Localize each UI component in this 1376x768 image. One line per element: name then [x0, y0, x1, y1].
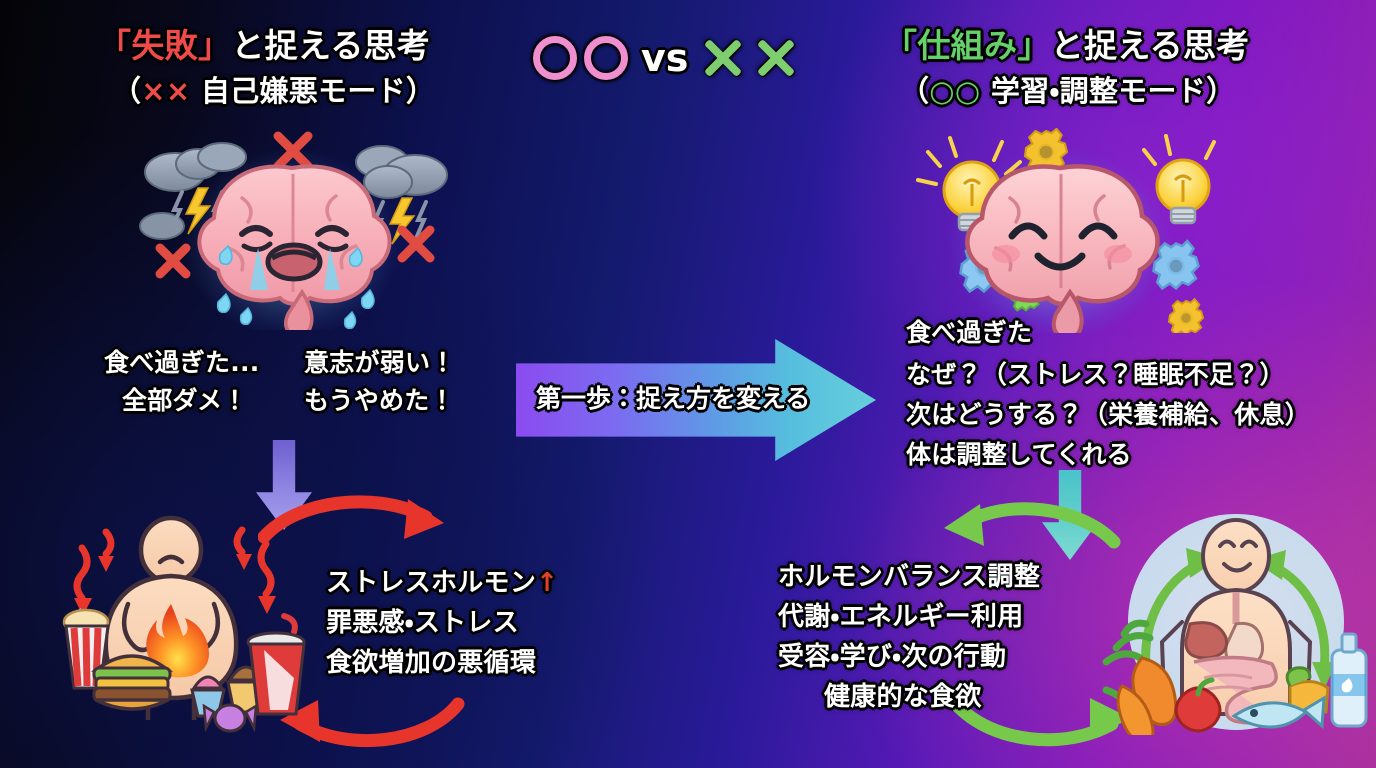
left-thought-line-2: 全部ダメ！ [122, 386, 248, 415]
left-thought-column-2: 意志が弱い！ [304, 348, 456, 379]
storm-cloud-icon [356, 146, 447, 198]
left-subheading-open: （ [112, 74, 141, 108]
left-heading: 「失敗」と捉える思考 [98, 26, 430, 66]
right-subheading-rest: 学習・調整モード） [981, 74, 1236, 108]
right-outcome-line: 代謝・エネルギー利用 [778, 602, 1023, 634]
circle-mark-icon [584, 36, 628, 80]
left-thought-column-1b: 全部ダメ！ [122, 386, 248, 417]
step-arrow: 第一歩：捉え方を変える [516, 339, 876, 461]
right-outcome-line: 健康的な食欲 [824, 682, 982, 714]
step-arrow-label: 第一歩：捉え方を変える [536, 379, 810, 415]
right-subheading-open: （ [900, 74, 929, 108]
left-thought-column-2b: もうやめた！ [304, 386, 455, 417]
left-outcome-line: ストレスホルモン↑ [326, 568, 558, 600]
right-subheading: （○○ 学習・調整モード） [900, 74, 1235, 109]
right-thought-line: 体は調整してくれる [906, 440, 1132, 471]
left-subheading-marks: ×× [141, 74, 190, 108]
right-thought-line: 食べ過ぎた [906, 318, 1032, 349]
right-thought-line: なぜ？（ストレス？睡眠不足？） [906, 360, 1285, 391]
left-thought-line-1: 食べ過ぎた... [104, 348, 260, 377]
soda-cup-icon [248, 616, 304, 714]
cross-mark-icon [754, 36, 798, 80]
vs-label: vs [641, 36, 688, 80]
left-thought-line-3: 意志が弱い！ [304, 348, 456, 377]
right-thought-line: 次はどうする？（栄養補給、休息） [906, 400, 1310, 431]
left-outcome-line: 食欲増加の悪循環 [326, 648, 536, 680]
crying-brain-illustration [130, 130, 460, 330]
right-subheading-marks: ○○ [929, 74, 980, 108]
left-subheading-rest: 自己嫌悪モード） [190, 74, 435, 108]
left-heading-rest: と捉える思考 [231, 26, 430, 65]
cross-mark-icon [701, 36, 745, 80]
right-outcome-line: 受容・学び・次の行動 [778, 642, 1006, 674]
burger-icon [94, 656, 170, 709]
right-heading: 「仕組み」と捉える思考 [884, 26, 1250, 66]
healthy-body-illustration [1086, 500, 1376, 735]
left-subheading: （×× 自己嫌悪モード） [112, 74, 435, 109]
liver-icon [1186, 623, 1227, 658]
right-heading-keyword: 「仕組み」 [884, 26, 1051, 65]
smiling-brain-illustration [880, 128, 1220, 333]
left-thought-column-1: 食べ過ぎた... [104, 348, 260, 379]
up-arrow-icon: ↑ [536, 568, 558, 598]
overeating-body-illustration [44, 500, 334, 735]
left-heading-keyword: 「失敗」 [98, 26, 231, 65]
infographic-canvas: 「失敗」と捉える思考 （×× 自己嫌悪モード） vs 「仕組み」と捉える思考 （… [0, 0, 1376, 768]
right-heading-rest: と捉える思考 [1051, 26, 1250, 65]
versus-badge: vs [533, 36, 798, 80]
right-outcome-line: ホルモンバランス調整 [778, 562, 1040, 594]
left-outcome-line: 罪悪感・ストレス [326, 608, 519, 640]
circle-mark-icon [533, 36, 577, 80]
left-thought-line-4: もうやめた！ [304, 386, 455, 415]
